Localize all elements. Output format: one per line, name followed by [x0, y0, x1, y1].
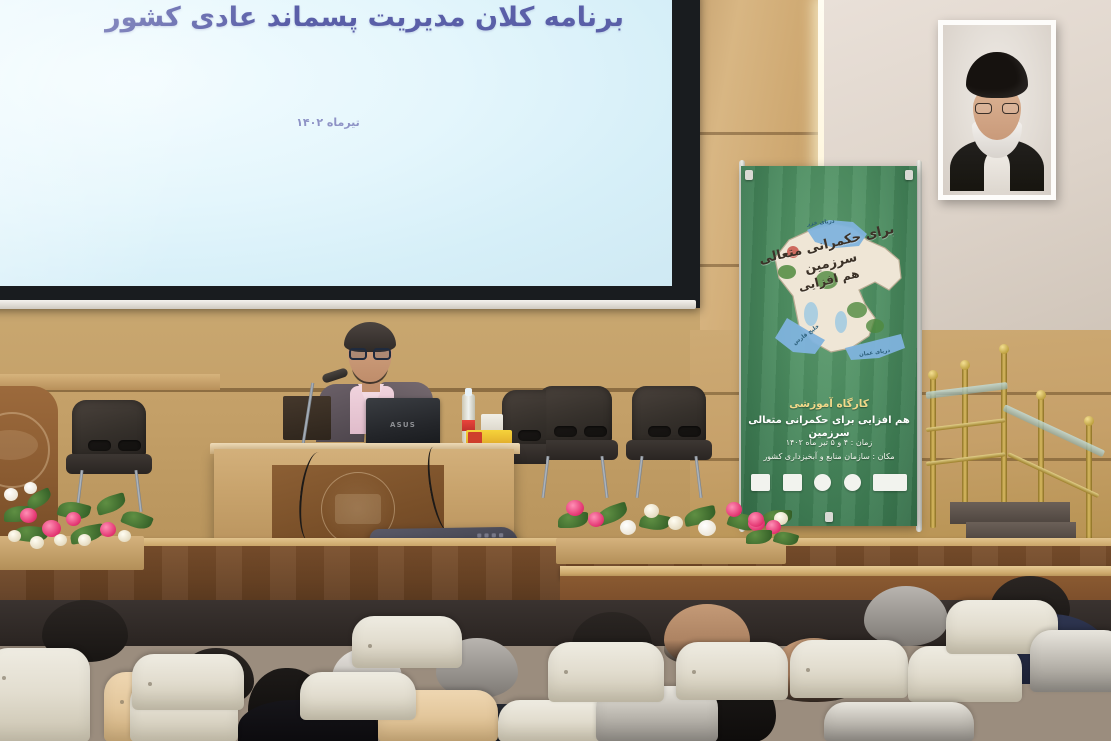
iran-map-graphic: دریای خزر خلیج فارس دریای عمان برای حکمر…	[749, 206, 909, 386]
projection-screen-bottom-bar	[0, 300, 696, 309]
wall-portrait-frame	[938, 20, 1056, 200]
portrait-image	[943, 25, 1051, 195]
sponsor-logo-4	[844, 474, 861, 491]
presenter-laptop[interactable]: ASUS	[366, 398, 440, 448]
audience-seat-7[interactable]	[132, 654, 244, 710]
audience-seat-8[interactable]	[300, 672, 416, 720]
audience-seat-13[interactable]	[352, 616, 462, 668]
banner-time-line: زمان : ۴ و ۵ تیر ماه ۱۴۰۲	[745, 438, 913, 447]
sponsor-logo-3	[814, 474, 831, 491]
projection-screen-surface: برنامه کلان مدیریت پسماند عادی کشور تیرم…	[0, 0, 672, 286]
stage-chair-3[interactable]	[626, 386, 712, 496]
projection-screen-frame: برنامه کلان مدیریت پسماند عادی کشور تیرم…	[0, 0, 700, 308]
slide-subtitle: تیرماه ۱۴۰۲	[0, 116, 672, 129]
audience-seat-10[interactable]	[676, 642, 788, 700]
audience-seat-16[interactable]	[824, 702, 974, 741]
laptop-brand-label: ASUS	[390, 421, 416, 429]
audience-head-8	[864, 586, 948, 646]
audience-seat-12[interactable]	[908, 646, 1022, 702]
banner-headline: کارگاه آموزشی	[741, 398, 917, 410]
pa-speaker-indicators	[477, 533, 503, 537]
audience-seat-9[interactable]	[548, 642, 664, 702]
event-rollup-banner: دریای خزر خلیج فارس دریای عمان برای حکمر…	[741, 166, 917, 526]
banner-main-line: هم افزایی برای حکمرانی متعالی سرزمین	[745, 414, 913, 440]
audience-seat-1[interactable]	[0, 648, 90, 741]
audience-seat-15[interactable]	[1030, 630, 1111, 692]
banner-place-line: مکان : سازمان منابع و آبخیزداری کشور	[745, 452, 913, 461]
sponsor-logo-5	[873, 474, 907, 491]
portrait-glasses-icon	[975, 103, 1019, 114]
presenter-glasses-icon	[349, 348, 391, 360]
audience-seat-11[interactable]	[790, 640, 908, 698]
auditorium-photo-scene: برنامه کلان مدیریت پسماند عادی کشور تیرم…	[0, 0, 1111, 741]
slide-title: برنامه کلان مدیریت پسماند عادی کشور	[24, 2, 624, 33]
